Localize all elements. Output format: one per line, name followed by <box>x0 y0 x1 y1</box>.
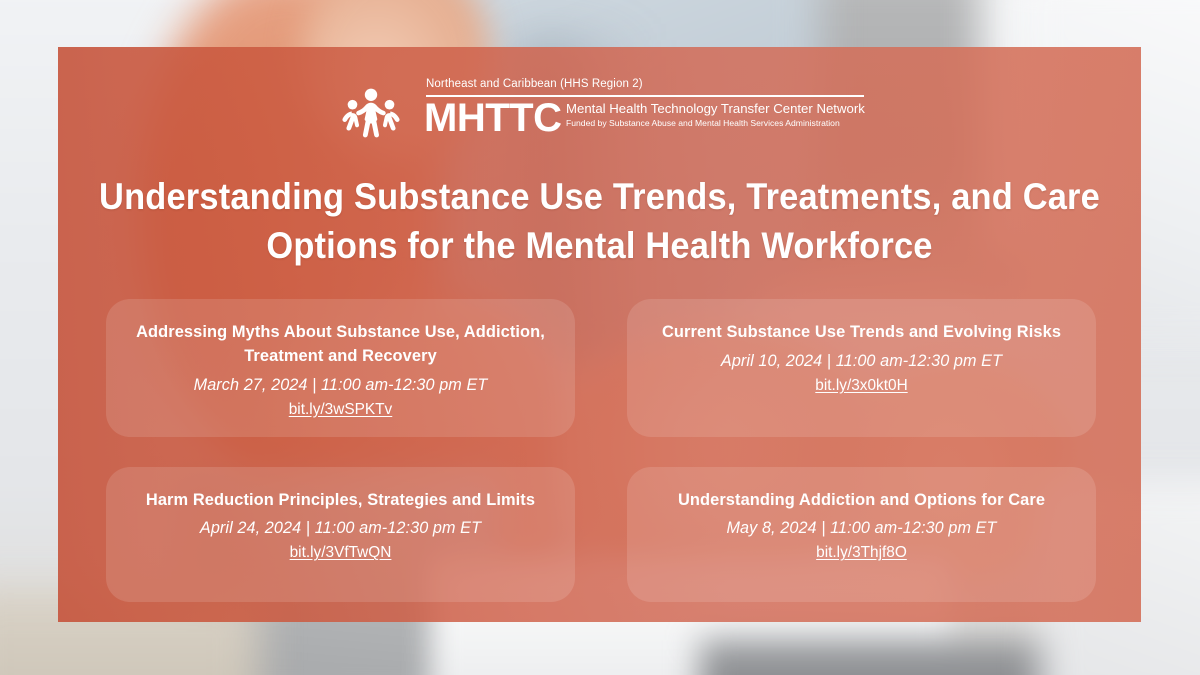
session-datetime: April 10, 2024 | 11:00 am-12:30 pm ET <box>721 352 1002 371</box>
session-title: Addressing Myths About Substance Use, Ad… <box>124 321 557 369</box>
page-title: Understanding Substance Use Trends, Trea… <box>96 172 1103 270</box>
session-datetime: April 24, 2024 | 11:00 am-12:30 pm ET <box>200 519 481 538</box>
session-card: Harm Reduction Principles, Strategies an… <box>106 467 575 602</box>
logo-network-name: Mental Health Technology Transfer Center… <box>566 101 865 116</box>
three-raised-arms-figures-icon <box>340 84 402 140</box>
session-title: Harm Reduction Principles, Strategies an… <box>146 489 535 513</box>
session-datetime: March 27, 2024 | 11:00 am-12:30 pm ET <box>194 376 488 395</box>
session-registration-link[interactable]: bit.ly/3VfTwQN <box>290 544 392 562</box>
orange-overlay-panel: Northeast and Caribbean (HHS Region 2) M… <box>58 47 1141 622</box>
logo-funder-line: Funded by Substance Abuse and Mental Hea… <box>566 118 840 128</box>
logo-acronym: MHTTC <box>424 98 561 138</box>
mhttc-logo: Northeast and Caribbean (HHS Region 2) M… <box>340 78 860 144</box>
session-registration-link[interactable]: bit.ly/3wSPKTv <box>289 401 393 419</box>
session-title: Current Substance Use Trends and Evolvin… <box>662 321 1061 345</box>
logo-region-line: Northeast and Caribbean (HHS Region 2) <box>426 78 643 90</box>
session-registration-link[interactable]: bit.ly/3Thjf8O <box>816 544 907 562</box>
flyer-canvas: Northeast and Caribbean (HHS Region 2) M… <box>0 0 1200 675</box>
session-title: Understanding Addiction and Options for … <box>678 489 1045 513</box>
session-registration-link[interactable]: bit.ly/3x0kt0H <box>815 377 907 395</box>
session-card: Understanding Addiction and Options for … <box>627 467 1096 602</box>
session-card-grid: Addressing Myths About Substance Use, Ad… <box>106 299 1096 602</box>
session-card: Addressing Myths About Substance Use, Ad… <box>106 299 575 437</box>
session-card: Current Substance Use Trends and Evolvin… <box>627 299 1096 437</box>
session-datetime: May 8, 2024 | 11:00 am-12:30 pm ET <box>726 519 996 538</box>
